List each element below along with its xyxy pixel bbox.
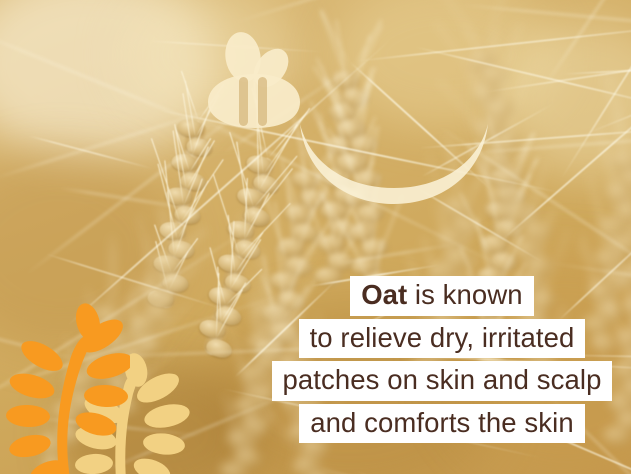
- message-line-4: and comforts the skin: [299, 404, 584, 444]
- message-line-3: patches on skin and scalp: [272, 361, 613, 401]
- message-line-1: Oat is known: [350, 276, 533, 316]
- message-emphasis-oat: Oat: [361, 279, 407, 310]
- crescent-swoosh-icon: [296, 118, 492, 210]
- message-line-2: to relieve dry, irritated: [299, 319, 586, 359]
- message-line-1-rest: is known: [407, 279, 523, 310]
- wheat-leaf-stalk-orange-icon: [2, 300, 130, 474]
- oat-benefit-card: Oat is known to relieve dry, irritated p…: [0, 0, 631, 474]
- bee-icon: [203, 30, 305, 130]
- benefit-message: Oat is known to relieve dry, irritated p…: [268, 276, 616, 443]
